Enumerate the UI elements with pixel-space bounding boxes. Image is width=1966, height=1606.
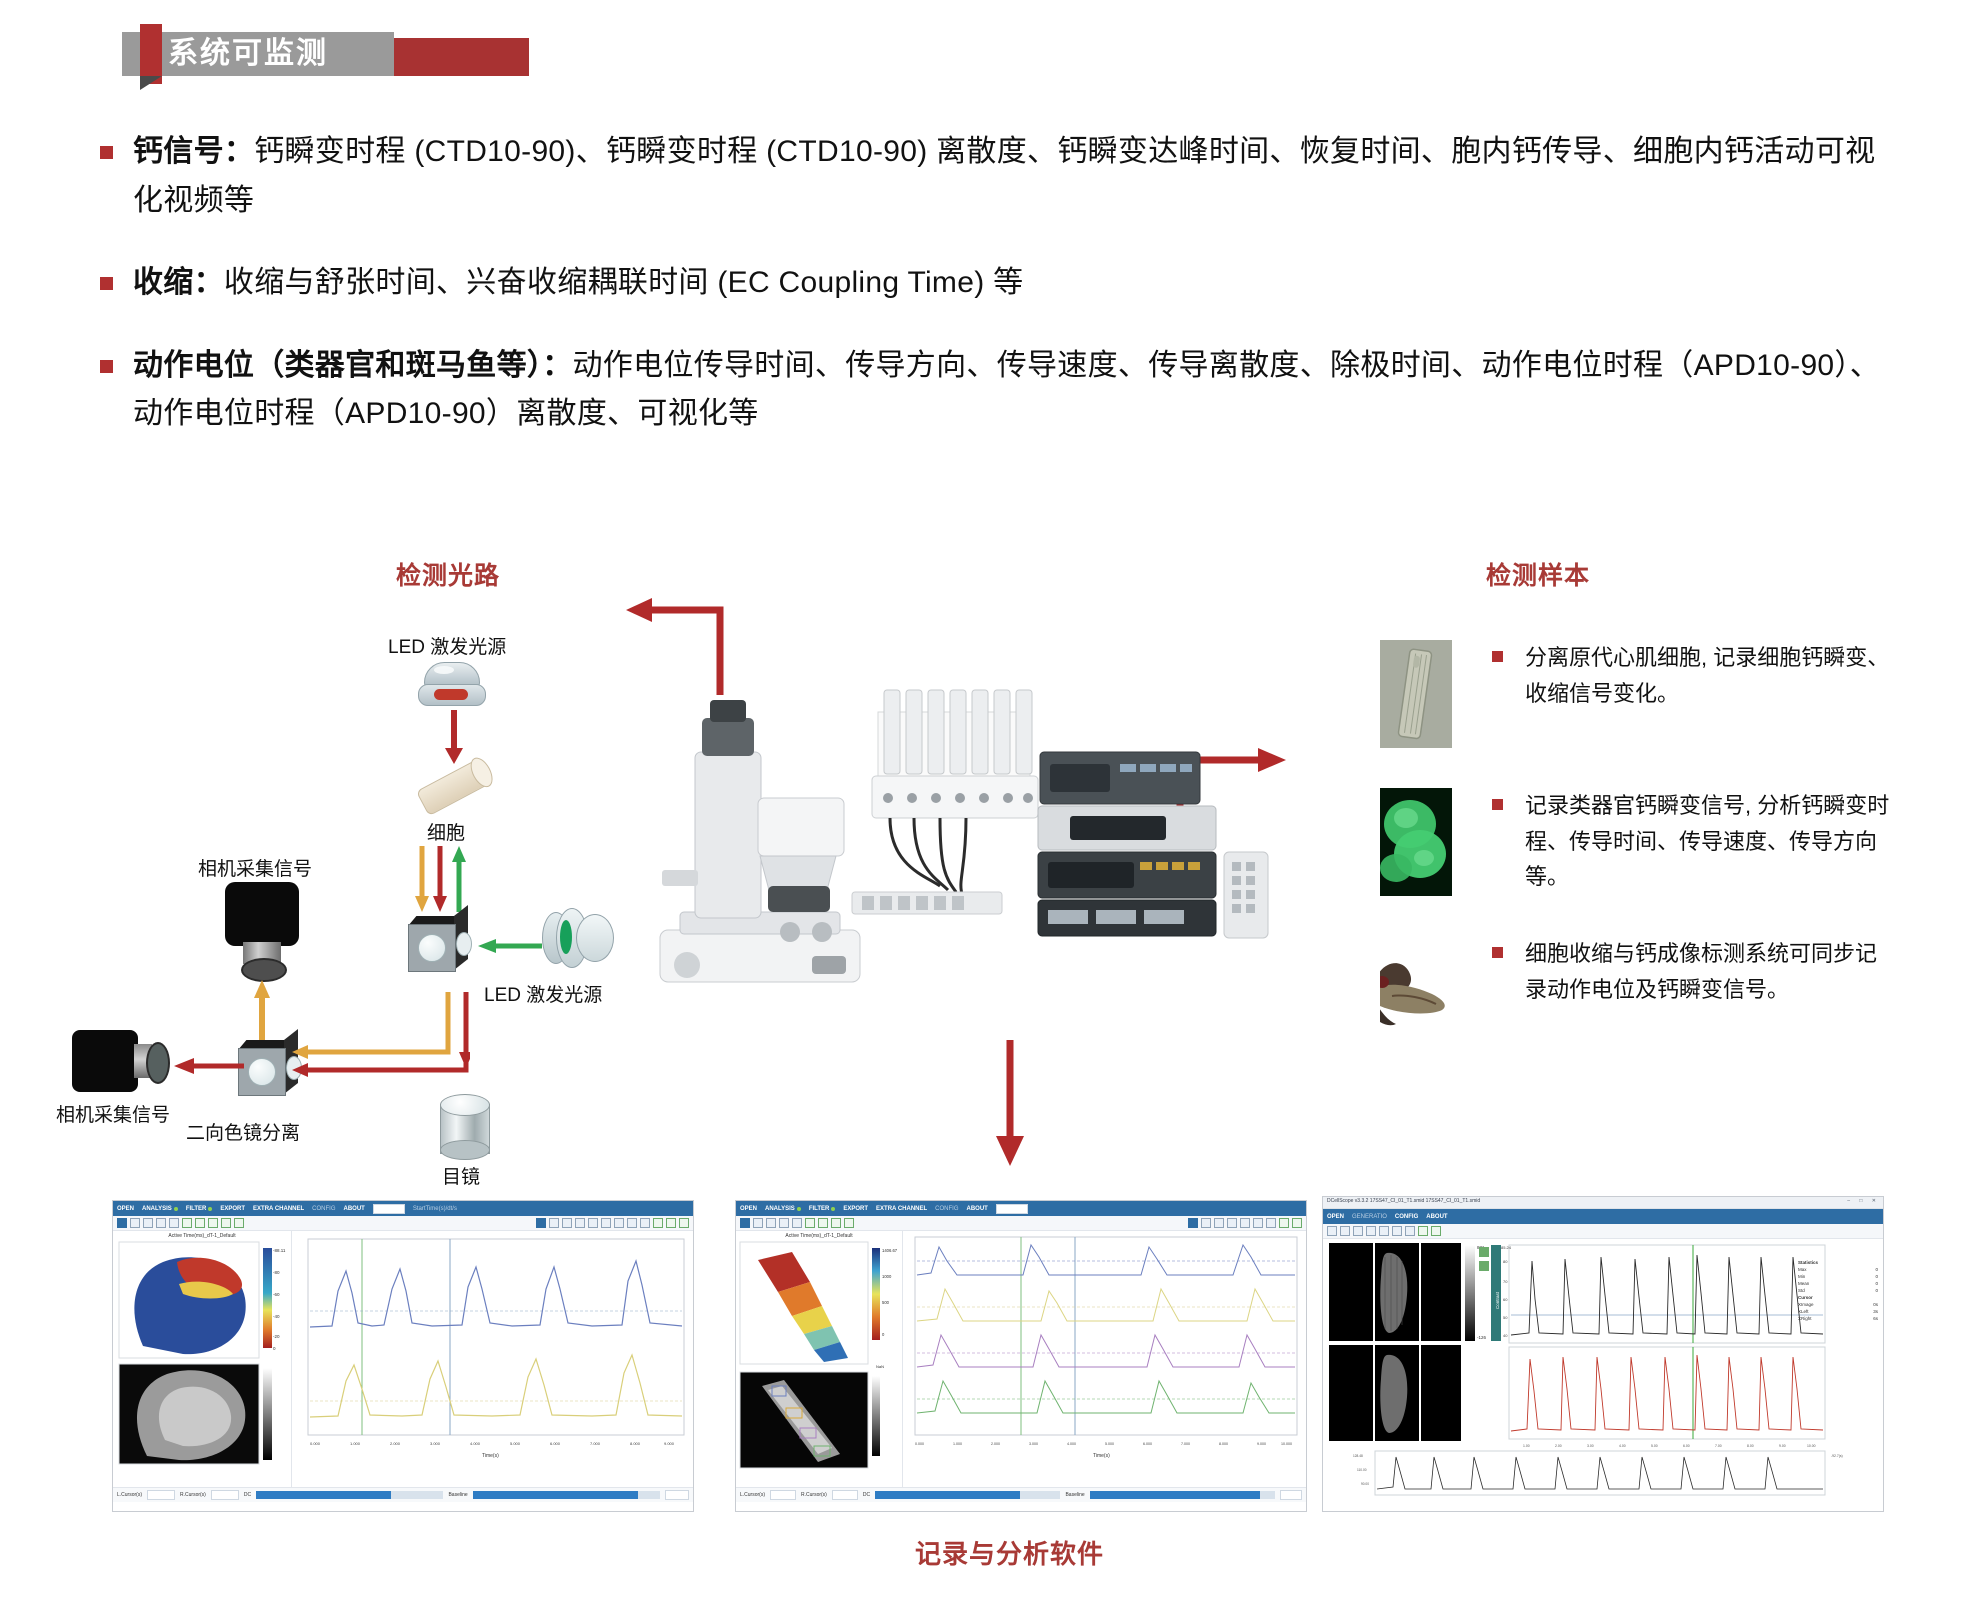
export-tool-icon[interactable] [234,1218,244,1228]
software-screenshot-dcellscope[interactable]: DCellScope v3.3.2 17SS47_CI_01_T1.smid 1… [1322,1196,1884,1512]
svg-text:6.00: 6.00 [1683,1444,1690,1448]
zoom-tool-icon[interactable] [130,1218,140,1228]
amplifier-stack-illustration [1038,752,1268,938]
sample-description: 记录类器官钙瞬变信号, 分析钙瞬变时程、传导时间、传导速度、传导方向等。 [1525,788,1890,895]
app1-signal-plot: 0.0001.0002.000 3.0004.0005.000 6.0007.0… [292,1231,692,1475]
baseline-value-input[interactable] [1280,1490,1302,1500]
caption-detection-sample: 检测样本 [1486,556,1590,592]
delta-tool-icon[interactable] [1379,1226,1389,1236]
stat-row-std: Std 0 [1795,1287,1881,1294]
svg-text:10.000: 10.000 [1281,1442,1292,1446]
label-dc: DC [244,1492,251,1498]
sample-item-cardiomyocyte: 分离原代心肌细胞, 记录细胞钙瞬变、收缩信号变化。 [1380,640,1890,748]
grid-tool-icon[interactable] [156,1218,166,1228]
menu-item-extra-channel[interactable]: EXTRA CHANNEL [253,1206,304,1212]
label-r-cursor: R.Cursor(s) [180,1492,206,1498]
menu-item-open[interactable]: OPEN [740,1206,757,1212]
trace-tool-icon[interactable] [653,1218,663,1228]
l-cursor-input[interactable] [147,1490,175,1500]
svg-text:9.000: 9.000 [664,1441,675,1446]
copy-tool-icon[interactable] [1292,1218,1302,1228]
sample-list: 分离原代心肌细胞, 记录细胞钙瞬变、收缩信号变化。 记录类器官钙瞬变信号, 分析… [1380,640,1890,1084]
svg-text:60: 60 [1503,1297,1508,1302]
bullet-text: 收缩：收缩与舒张时间、兴奋收缩耦联时间 (EC Coupling Time) 等 [133,259,1023,308]
image-tool-icon[interactable] [831,1218,841,1228]
menu-item-analysis[interactable]: ANALYSIS [142,1206,178,1212]
svg-text:2.000: 2.000 [991,1442,1000,1446]
arrow-dichroic-to-camera-left [170,1056,244,1076]
svg-text:1.000: 1.000 [953,1442,962,1446]
menu-item-config[interactable]: CONFIG [312,1206,335,1212]
banner-red-box [388,38,529,76]
sample-text-block: 记录类器官钙瞬变信号, 分析钙瞬变时程、传导时间、传导速度、传导方向等。 [1492,788,1890,895]
mask-tool-icon[interactable] [792,1218,802,1228]
svg-text:40: 40 [1503,1333,1508,1338]
svg-text:8.000: 8.000 [630,1441,641,1446]
save-tool-icon[interactable] [195,1218,205,1228]
svg-text:9.000: 9.000 [1257,1442,1266,1446]
stat-value: 0 [1875,1267,1878,1272]
bullet-square-icon [100,146,113,159]
svg-text:4.00: 4.00 [1619,1444,1626,1448]
sample-thumbnail-zebrafish [1380,936,1452,1044]
stat-key: Max [1798,1267,1807,1272]
svg-text:110.00: 110.00 [1357,1468,1367,1472]
label-baseline: Baseline [448,1492,467,1498]
app2-menu-bar[interactable]: OPEN ANALYSIS FILTER EXPORT EXTRA CHANNE… [736,1201,1306,1216]
delta-tool-icon[interactable] [575,1218,585,1228]
zoom-tool-icon[interactable] [753,1218,763,1228]
svg-text:5.000: 5.000 [1105,1442,1114,1446]
bullet-lead: 动作电位（类器官和斑马鱼等）： [133,349,573,382]
sample-description: 分离原代心肌细胞, 记录细胞钙瞬变、收缩信号变化。 [1525,640,1890,711]
grid-tool-icon[interactable] [779,1218,789,1228]
peak-tool-icon[interactable] [1201,1218,1211,1228]
sample-text-block: 分离原代心肌细胞, 记录细胞钙瞬变、收缩信号变化。 [1492,640,1890,711]
channel-field-icon[interactable] [549,1218,559,1228]
delta-tool-icon[interactable] [1214,1218,1224,1228]
camera-left-icon [72,1030,168,1092]
menu-item-config[interactable]: CONFIG [1395,1214,1418,1220]
app1-body: Active Time(ms)_dT-1_Default -88.11 -80 … [113,1231,693,1487]
baseline-slider[interactable] [473,1491,660,1499]
banner-notch [140,76,162,90]
app1-toolbar[interactable] [113,1216,693,1231]
caption-software: 记录与分析软件 [915,1534,1104,1571]
cursor-value: 3s [1873,1309,1878,1314]
baseline-value-input[interactable] [665,1490,689,1500]
bullet-lead: 收缩： [133,266,224,299]
app2-body: Active Time(ms)_dT-1_Default 1406.67 100… [736,1231,1306,1487]
label-l-cursor: L.Cursor(s) [740,1492,765,1498]
svg-text:5.000: 5.000 [510,1441,521,1446]
app3-body: 831 -126 Contrast 85.248070 605040 1.002… [1323,1239,1883,1497]
menu-item-generation[interactable]: GENERATIO [1352,1214,1387,1220]
app1-xlabel: Time(s) [482,1453,499,1459]
eyepiece-icon [440,1094,490,1158]
label-dc: DC [863,1492,870,1498]
svg-text:128.48: 128.48 [1353,1454,1363,1458]
app3-toolbar[interactable] [1323,1224,1883,1239]
app2-signal-plot: 0.0001.0002.000 3.0004.0005.000 6.0007.0… [903,1231,1303,1475]
crosshair-tool-icon[interactable] [740,1218,750,1228]
optical-path-diagram: LED 激发光源 细胞 LED 激发光源 相机采集信号 [60,600,640,1160]
dc-slider[interactable] [875,1491,1060,1499]
layout-tool-icon[interactable] [844,1218,854,1228]
slope-tool-icon[interactable] [1227,1218,1237,1228]
svg-text:-92.7(s): -92.7(s) [1831,1454,1843,1458]
sample-item-zebrafish: 细胞收缩与钙成像标测系统可同步记录动作电位及钙瞬变信号。 [1380,936,1890,1044]
bullet-body: 收缩与舒张时间、兴奋收缩耦联时间 (EC Coupling Time) 等 [224,266,1024,299]
bullet-lead: 钙信号： [133,135,254,168]
svg-text:8.000: 8.000 [1219,1442,1228,1446]
bullet-square-icon [1492,651,1503,662]
app2-panel-title: Active Time(ms)_dT-1_Default [736,1231,902,1240]
svg-text:-80: -80 [273,1270,280,1275]
svg-text:8.00: 8.00 [1747,1444,1754,1448]
svg-text:50: 50 [1503,1315,1508,1320]
svg-text:6.000: 6.000 [1143,1442,1152,1446]
instrument-photo [640,680,1280,1020]
software-screenshot-calcium[interactable]: OPEN ANALYSIS FILTER EXPORT EXTRA CHANNE… [112,1200,694,1512]
sample-text-block: 细胞收缩与钙成像标测系统可同步记录动作电位及钙瞬变信号。 [1492,936,1890,1007]
app1-menu-bar[interactable]: OPEN ANALYSIS FILTER EXPORT EXTRA CHANNE… [113,1201,693,1216]
stat-value: 0 [1875,1288,1878,1293]
layout-tool-icon[interactable] [221,1218,231,1228]
microscope-illustration [660,700,860,982]
menu-item-about[interactable]: ABOUT [967,1206,988,1212]
menu-item-config[interactable]: CONFIG [935,1206,958,1212]
app2-footer-controls[interactable]: L.Cursor(s) R.Cursor(s) DC Baseline [736,1487,1306,1502]
stat-key: Min [1798,1274,1805,1279]
print-tool-icon[interactable] [679,1218,689,1228]
page-title: 系统可监测 [168,34,328,74]
stats-tool-icon[interactable] [614,1218,624,1228]
svg-text:-20: -20 [273,1334,280,1339]
app2-image-pane[interactable]: Active Time(ms)_dT-1_Default 1406.67 100… [736,1231,903,1487]
app1-heatmaps: -88.11 -80 -60 -40 -20 0 [113,1240,291,1470]
label-l-cursor: L.Cursor(s) [117,1492,142,1498]
stat-value: 0 [1875,1281,1878,1286]
menu-item-export[interactable]: EXPORT [843,1206,868,1212]
select-tool-icon[interactable] [766,1218,776,1228]
cursor-value: 6s [1873,1316,1878,1321]
copy-tool-icon[interactable] [666,1218,676,1228]
sample-item-organoid: 记录类器官钙瞬变信号, 分析钙瞬变时程、传导时间、传导速度、传导方向等。 [1380,788,1890,896]
baseline-slider[interactable] [1090,1491,1275,1499]
start-time-input[interactable] [373,1204,405,1214]
svg-text:3.000: 3.000 [1029,1442,1038,1446]
sample-thumbnail-cardiomyocyte [1380,640,1452,748]
cursor-row-xleft: XLeft 3s [1795,1308,1881,1315]
label-dichroic-separation: 二向色镜分离 [186,1118,300,1145]
label-led-excitation-right: LED 激发光源 [484,980,602,1007]
arrows-path-to-lower-dichroic [288,992,470,1092]
label-r-cursor: R.Cursor(s) [801,1492,827,1498]
cursor-key: XLeft [1798,1309,1809,1314]
arrow-rig-to-software [990,1040,1030,1170]
bullet-square-icon [100,277,113,290]
app3-title-bar: DCellScope v3.3.2 17SS47_CI_01_T1.smid 1… [1323,1197,1883,1209]
menu-item-about[interactable]: ABOUT [1426,1214,1447,1220]
r-cursor-input[interactable] [211,1490,239,1500]
app3-window-title: DCellScope v3.3.2 17SS47_CI_01_T1.smid 1… [1327,1198,1480,1204]
svg-text:10.00: 10.00 [1807,1444,1816,1448]
menu-item-analysis[interactable]: ANALYSIS [765,1206,801,1212]
cursor-tool-icon[interactable] [1266,1218,1276,1228]
camera-top-icon [225,882,299,978]
svg-text:3.00: 3.00 [1587,1444,1594,1448]
app1-cbar-top: -88.11 [273,1248,286,1253]
dichroic-mirror-cube-upper-icon [408,916,470,978]
app1-footer-controls[interactable]: L.Cursor(s) R.Cursor(s) DC Baseline [113,1487,693,1502]
svg-text:4.000: 4.000 [1067,1442,1076,1446]
app1-panel-title: Active Time(ms)_dT-1_Default [113,1231,291,1240]
crosshair-tool-icon[interactable] [117,1218,127,1228]
svg-text:2.00: 2.00 [1555,1444,1562,1448]
peak-dropdown-icon[interactable] [1340,1226,1350,1236]
peak-tool-icon[interactable] [1327,1226,1337,1236]
svg-text:NaN: NaN [876,1364,884,1369]
svg-text:9.00: 9.00 [1779,1444,1786,1448]
slope-tool-icon[interactable] [1353,1226,1363,1236]
svg-text:-40: -40 [273,1314,280,1319]
label-camera-bottom: 相机采集信号 [56,1100,170,1127]
svg-text:0.000: 0.000 [310,1441,321,1446]
select-tool-icon[interactable] [143,1218,153,1228]
svg-text:6.000: 6.000 [550,1441,561,1446]
label-camera-top: 相机采集信号 [198,854,312,881]
menu-item-export[interactable]: EXPORT [220,1206,245,1212]
app1-image-pane[interactable]: Active Time(ms)_dT-1_Default -88.11 -80 … [113,1231,292,1487]
label-eyepiece: 目镜 [442,1162,480,1189]
statistics-header: Statistics [1795,1259,1881,1266]
svg-text:80: 80 [1503,1259,1508,1264]
svg-text:7.000: 7.000 [590,1441,601,1446]
sample-thumbnail-organoid [1380,788,1452,896]
bullet-square-icon [1492,947,1503,958]
save-tool-icon[interactable] [818,1218,828,1228]
window-controls-icon[interactable]: – □ ✕ [1847,1198,1880,1204]
svg-text:1000: 1000 [882,1274,892,1279]
bullet-square-icon [1492,799,1503,810]
section-banner: 系统可监测 [108,24,528,84]
channel-select-icon[interactable] [536,1218,546,1228]
cursor-key: XImage [1798,1302,1814,1307]
svg-text:90.00: 90.00 [1361,1482,1369,1486]
stat-row-min: Min 0 [1795,1273,1881,1280]
feature-bullet-list: 钙信号：钙瞬变时程 (CTD10-90)、钙瞬变时程 (CTD10-90) 离散… [100,128,1890,473]
caption-optical-path: 检测光路 [396,556,500,592]
stat-row-max: Max 0 [1795,1266,1881,1273]
print-tool-icon[interactable] [1431,1226,1441,1236]
app3-cbar-bottom: -126 [1477,1335,1487,1340]
slope-tool-icon[interactable] [588,1218,598,1228]
svg-text:500: 500 [882,1300,890,1305]
menu-item-open[interactable]: OPEN [117,1206,134,1212]
app1-plot-pane[interactable]: 0.0001.0002.000 3.0004.0005.000 6.0007.0… [292,1231,693,1487]
bullet-square-icon [100,360,113,373]
svg-text:85.24: 85.24 [1501,1245,1512,1250]
cursor-key: XRight [1798,1316,1812,1321]
svg-text:7.000: 7.000 [1181,1442,1190,1446]
svg-text:1.00: 1.00 [1523,1444,1530,1448]
start-time-input[interactable] [996,1204,1028,1214]
edit-tool-icon[interactable] [805,1218,815,1228]
app2-heatmaps: 1406.67 1000 500 0 NaN [736,1240,902,1472]
label-led-excitation-top: LED 激发光源 [388,632,506,659]
svg-text:1406.67: 1406.67 [882,1248,898,1253]
svg-text:0: 0 [882,1332,885,1337]
svg-text:3.000: 3.000 [430,1441,441,1446]
dc-slider[interactable] [256,1491,443,1499]
svg-text:0.000: 0.000 [915,1442,924,1446]
svg-text:7.00: 7.00 [1715,1444,1722,1448]
app2-toolbar[interactable] [736,1216,1306,1231]
bullet-body: 钙瞬变时程 (CTD10-90)、钙瞬变时程 (CTD10-90) 离散度、钙瞬… [133,135,1875,217]
app2-plot-pane[interactable]: 0.0001.0002.000 3.0004.0005.000 6.0007.0… [903,1231,1306,1487]
app2-xlabel: Time(s) [1093,1453,1110,1459]
label-baseline: Baseline [1065,1492,1084,1498]
cursor-value: 0s [1873,1302,1878,1307]
trace-tool-icon[interactable] [1418,1226,1428,1236]
baseline-tool-icon[interactable] [640,1218,650,1228]
led-light-source-top-icon [418,662,484,706]
menu-item-about[interactable]: ABOUT [344,1206,365,1212]
svg-text:0: 0 [273,1346,276,1351]
mask-tool-icon[interactable] [169,1218,179,1228]
banner-red-bar [140,24,162,84]
app3-menu-bar[interactable]: OPEN GENERATIO CONFIG ABOUT [1323,1209,1883,1224]
edit-tool-icon[interactable] [182,1218,192,1228]
r-cursor-input[interactable] [832,1490,858,1500]
svg-text:2.000: 2.000 [390,1441,401,1446]
app3-contrast-label: Contrast [1495,1291,1500,1309]
led-light-source-right-icon [542,908,616,966]
app3-statistics-panel[interactable]: Statistics Max 0 Min 0 Mean 0 Std 0 Curs… [1795,1259,1881,1322]
cursor-header: Cursor [1795,1294,1881,1301]
cursor-row-xright: XRight 6s [1795,1315,1881,1322]
bullet-item-action-potential: 动作电位（类器官和斑马鱼等）：动作电位传导时间、传导方向、传导速度、传导离散度、… [100,342,1890,439]
cursor-row-ximage: XImage 0s [1795,1301,1881,1308]
arrows-cell-to-dichroic [412,846,472,916]
stat-value: 0 [1875,1274,1878,1279]
waveform-tool-icon[interactable] [1392,1226,1402,1236]
arrow-led-right-to-dichroic [474,936,542,956]
stats-tool-icon[interactable] [1253,1218,1263,1228]
svg-text:70: 70 [1503,1279,1508,1284]
svg-text:5.00: 5.00 [1651,1444,1658,1448]
start-time-placeholder: StartTime(s)/dt/s [413,1206,457,1212]
marker-tool-icon[interactable] [1240,1218,1250,1228]
bullet-text: 动作电位（类器官和斑马鱼等）：动作电位传导时间、传导方向、传导速度、传导离散度、… [133,342,1890,439]
cell-sample-icon [411,747,501,825]
measure-tool-icon[interactable] [1405,1226,1415,1236]
stat-key: Std [1798,1288,1805,1293]
menu-item-filter[interactable]: FILTER [809,1206,836,1212]
stat-key: Mean [1798,1281,1809,1286]
peak-tool-icon[interactable] [562,1218,572,1228]
svg-text:-60: -60 [273,1292,280,1297]
svg-text:4.000: 4.000 [470,1441,481,1446]
channel-select-icon[interactable] [1188,1218,1198,1228]
menu-item-extra-channel[interactable]: EXTRA CHANNEL [876,1206,927,1212]
label-cell: 细胞 [427,818,465,845]
bullet-item-calcium: 钙信号：钙瞬变时程 (CTD10-90)、钙瞬变时程 (CTD10-90) 离散… [100,128,1890,225]
sample-description: 细胞收缩与钙成像标测系统可同步记录动作电位及钙瞬变信号。 [1525,936,1890,1007]
menu-item-filter[interactable]: FILTER [186,1206,213,1212]
image-tool-icon[interactable] [208,1218,218,1228]
perfusion-manifold-illustration [852,690,1038,914]
slope-dropdown-icon[interactable] [1366,1226,1376,1236]
bullet-text: 钙信号：钙瞬变时程 (CTD10-90)、钙瞬变时程 (CTD10-90) 离散… [133,128,1890,225]
menu-item-open[interactable]: OPEN [1327,1214,1344,1220]
cursor-tool-icon[interactable] [627,1218,637,1228]
software-screenshot-organoid[interactable]: OPEN ANALYSIS FILTER EXPORT EXTRA CHANNE… [735,1200,1307,1512]
stat-row-mean: Mean 0 [1795,1280,1881,1287]
l-cursor-input[interactable] [770,1490,796,1500]
bullet-item-contraction: 收缩：收缩与舒张时间、兴奋收缩耦联时间 (EC Coupling Time) 等 [100,259,1890,308]
marker-tool-icon[interactable] [601,1218,611,1228]
svg-text:1.000: 1.000 [350,1441,361,1446]
trace-tool-icon[interactable] [1279,1218,1289,1228]
